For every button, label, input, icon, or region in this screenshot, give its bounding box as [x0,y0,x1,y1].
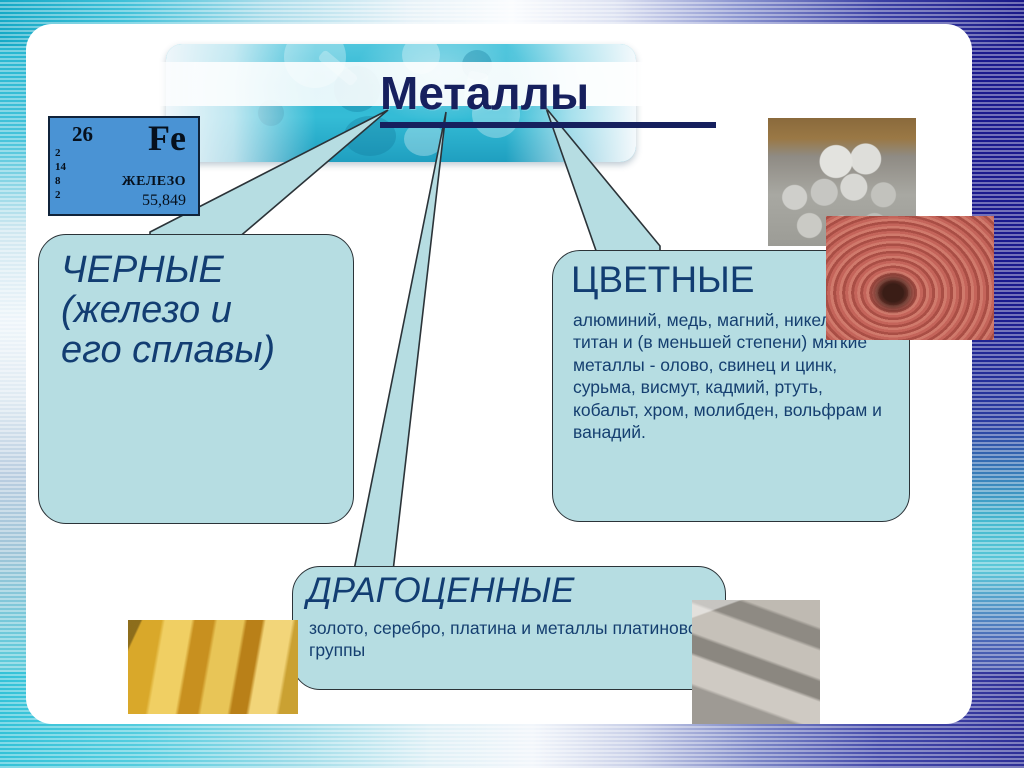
gold-ingots-photo [128,620,298,714]
category-heading-ferrous: ЧЕРНЫЕ (железо и его сплавы) [61,251,275,371]
copper-wire-coils-photo [826,216,994,340]
category-heading-nonferrous: ЦВЕТНЫЕ [571,261,754,300]
category-box-ferrous: ЧЕРНЫЕ (железо и его сплавы) [38,234,354,524]
atomic-number: 26 [72,122,93,147]
element-symbol: Fe [148,120,186,156]
silver-ingots-photo [692,600,820,724]
category-heading-precious: ДРАГОЦЕННЫЕ [307,573,574,610]
arrow-to-nonferrous [546,108,660,262]
category-list-precious: золото, серебро, платина и металлы плати… [309,617,709,662]
category-box-precious: ДРАГОЦЕННЫЕ золото, серебро, платина и м… [292,566,726,690]
electron-shells: 2 14 8 2 [55,146,66,202]
element-name: ЖЕЛЕЗО [122,174,186,190]
page-title: Металлы [380,70,720,116]
title-underline [380,122,716,128]
arrow-to-precious [352,112,446,580]
periodic-table-cell-iron: 26 Fe ЖЕЛЕЗО 55,849 2 14 8 2 [48,116,200,216]
atomic-mass: 55,849 [142,192,186,210]
slide-canvas: Металлы 26 Fe ЖЕЛЕЗО 55,849 2 14 8 2 ЧЕР… [0,0,1024,768]
